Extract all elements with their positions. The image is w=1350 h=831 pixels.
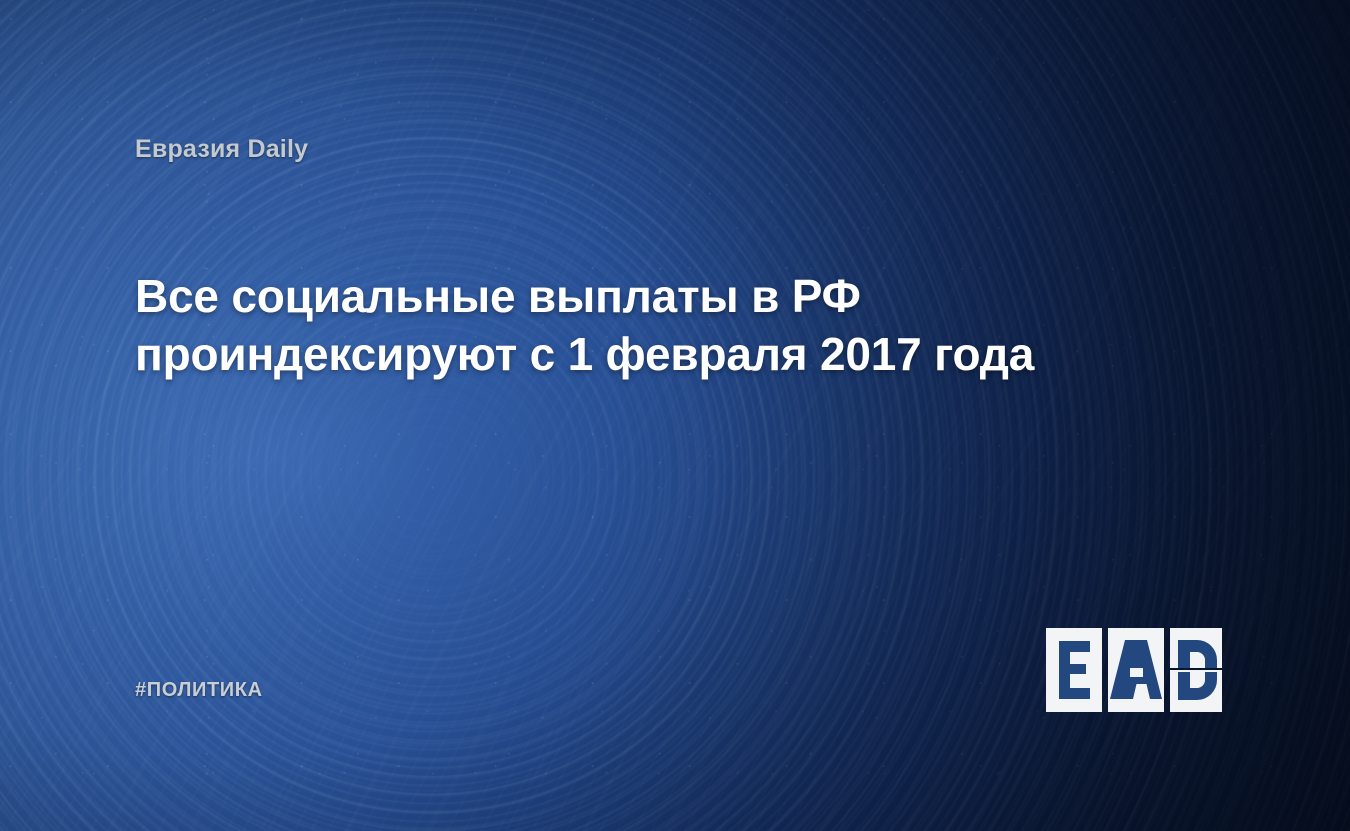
rubric-tag[interactable]: #ПОЛИТИКА [135,679,263,702]
logo-letter-e-glyph [1059,641,1090,699]
headline: Все социальные выплаты в РФ проиндексиру… [135,268,1225,384]
card-content: Евразия Daily Все социальные выплаты в Р… [0,0,1350,831]
headline-line-2: проиндексируют с 1 февраля 2017 года [135,326,1225,384]
eadaily-logo[interactable] [1046,628,1222,712]
headline-line-1: Все социальные выплаты в РФ [135,268,1225,326]
share-card: Евразия Daily Все социальные выплаты в Р… [0,0,1350,831]
site-brand-label: Евразия Daily [135,135,308,164]
